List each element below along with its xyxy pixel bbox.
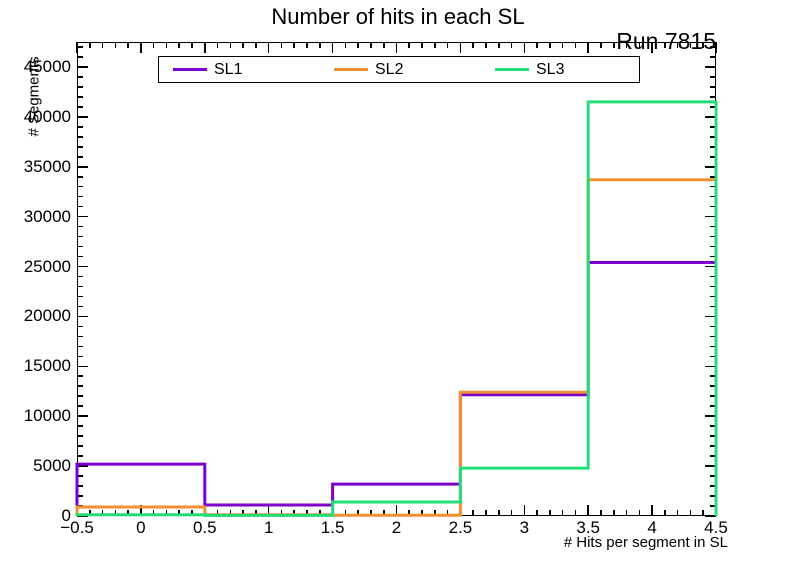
legend-entry-sl3[interactable]: SL3 [495,57,564,82]
legend: SL1SL2SL3 [158,56,640,83]
legend-entry-sl2[interactable]: SL2 [334,57,403,82]
legend-swatch-sl1 [173,68,207,71]
legend-label: SL2 [375,61,403,79]
histogram-series-sl1 [77,263,716,516]
histogram-lines [0,0,796,572]
chart-canvas: Number of hits in each SL Run 7815 # Seg… [0,0,796,572]
legend-swatch-sl3 [495,68,529,71]
legend-label: SL3 [536,61,564,79]
legend-swatch-sl2 [334,68,368,71]
histogram-series-sl3 [77,102,716,516]
legend-entry-sl1[interactable]: SL1 [173,57,242,82]
legend-label: SL1 [214,61,242,79]
